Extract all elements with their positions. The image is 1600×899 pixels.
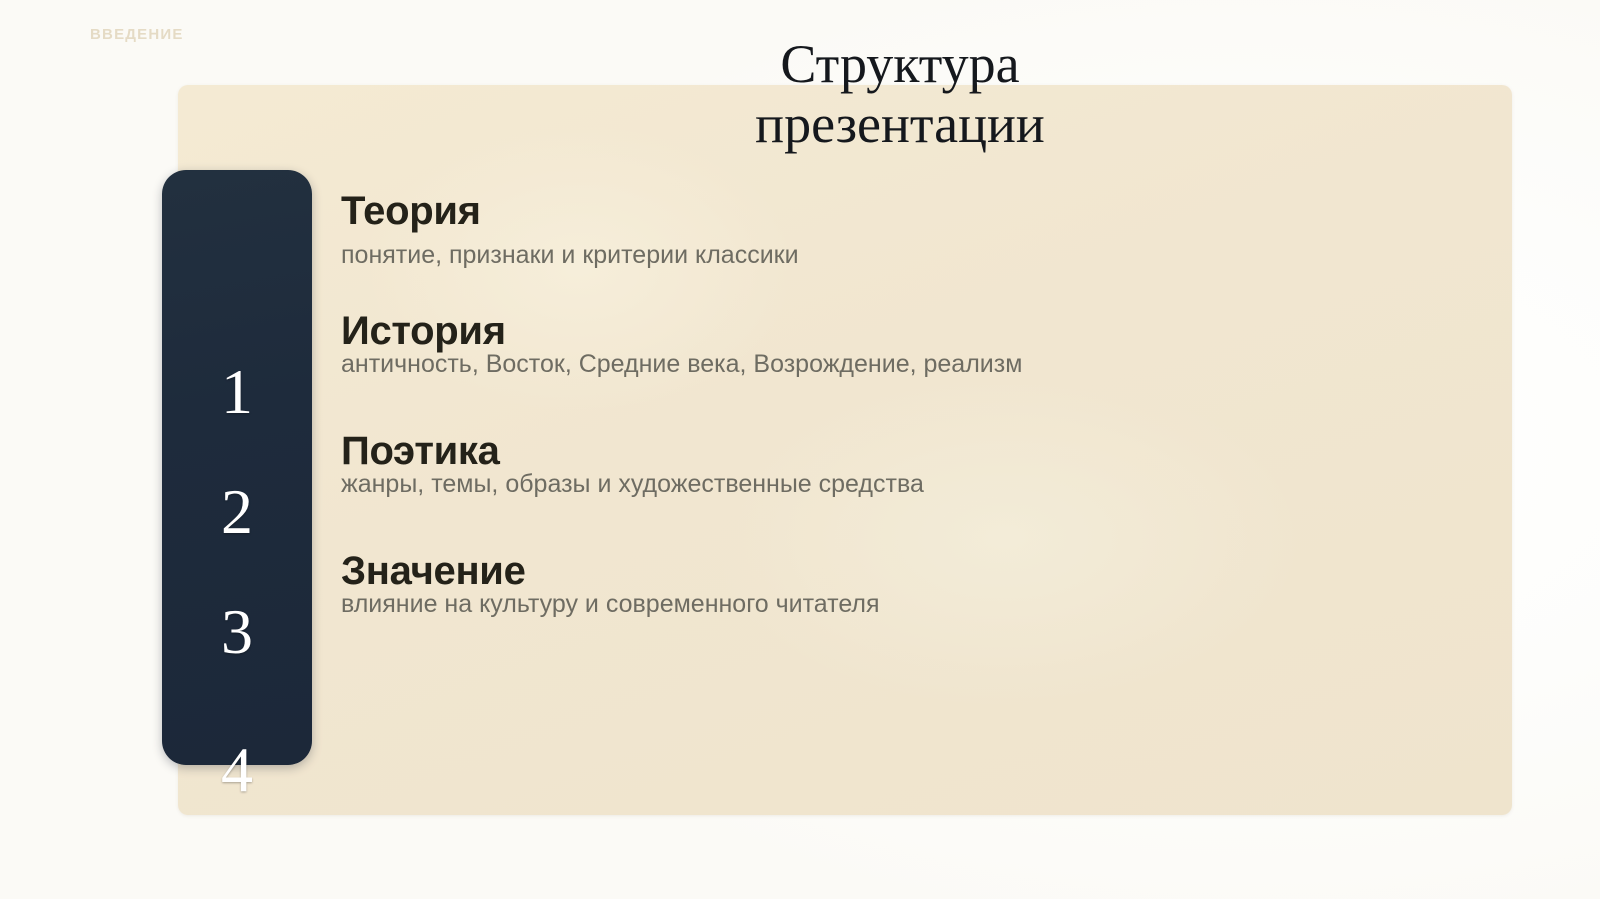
section-watermark-label: ВВЕДЕНИЕ	[90, 26, 184, 43]
agenda-item-1-heading: Теория	[341, 191, 1301, 231]
agenda-item-1: Теория понятие, признаки и критерии клас…	[341, 191, 1301, 272]
agenda-item-1-subtitle: понятие, признаки и критерии классики	[341, 239, 1301, 272]
rail-number-3: 3	[162, 600, 312, 664]
agenda-item-2-heading: История	[341, 311, 1301, 351]
agenda-item-4: Значение влияние на культуру и современн…	[341, 551, 1301, 621]
agenda-item-4-subtitle: влияние на культуру и современного читат…	[341, 588, 1301, 621]
agenda-item-3: Поэтика жанры, темы, образы и художестве…	[341, 431, 1301, 501]
agenda-item-3-subtitle: жанры, темы, образы и художественные сре…	[341, 468, 1301, 501]
slide-title-line-2: презентации	[600, 94, 1200, 154]
slide-title-line-1: Структура	[600, 34, 1200, 94]
rail-number-1: 1	[162, 360, 312, 424]
number-rail: 1 2 3 4	[162, 170, 312, 765]
agenda-item-4-heading: Значение	[341, 551, 1301, 591]
agenda-item-3-heading: Поэтика	[341, 431, 1301, 471]
agenda-item-2-subtitle: античность, Восток, Средние века, Возрож…	[341, 348, 1301, 381]
slide-title: Структура презентации	[600, 34, 1200, 155]
rail-number-2: 2	[162, 480, 312, 544]
agenda-item-2: История античность, Восток, Средние века…	[341, 311, 1301, 381]
rail-number-4: 4	[162, 738, 312, 802]
